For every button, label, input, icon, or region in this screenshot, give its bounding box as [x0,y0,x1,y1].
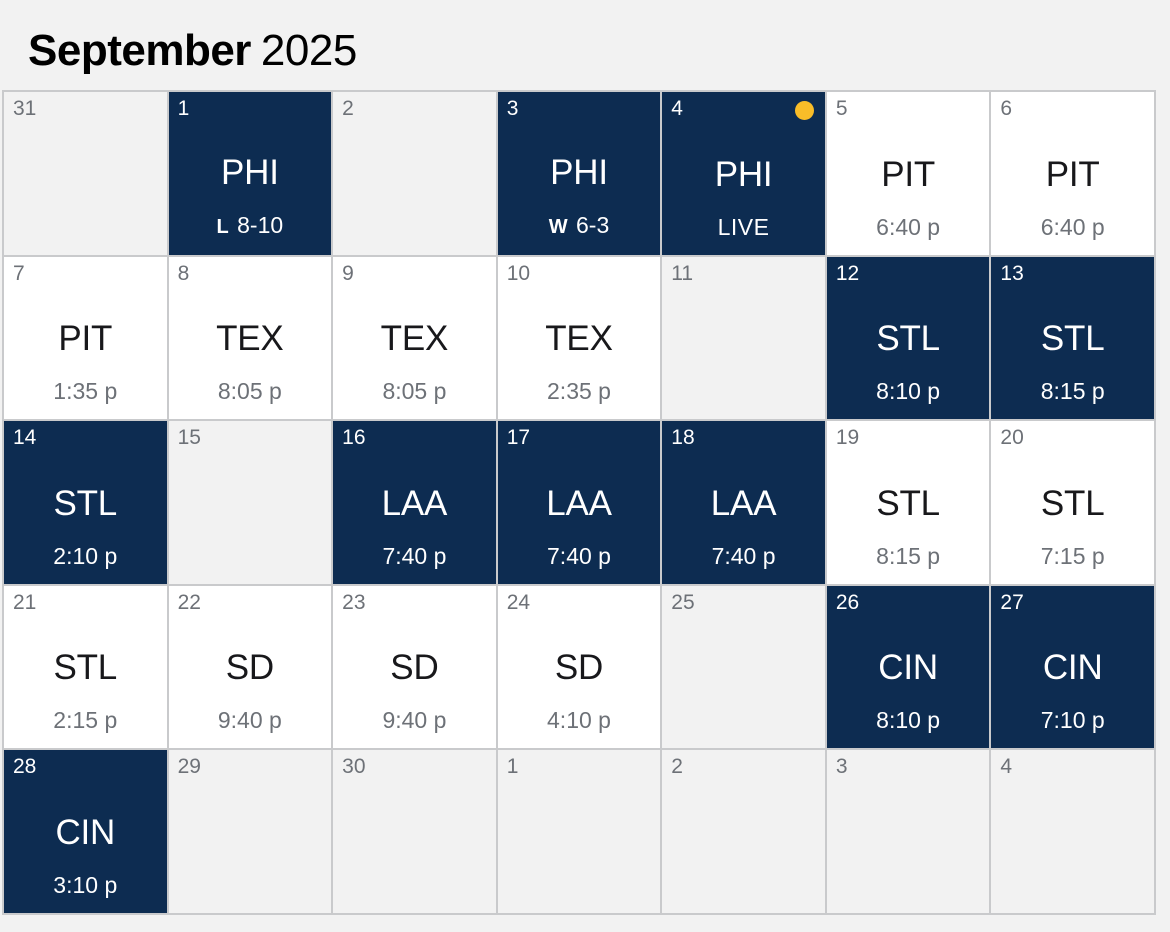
team-abbreviation: STL [876,484,940,524]
day-cell[interactable]: 7PIT1:35 p [4,257,167,420]
team-abbreviation: TEX [545,319,612,359]
title-year: 2025 [261,26,357,75]
day-number: 2 [671,755,683,779]
team-abbreviation: LAA [382,484,448,524]
day-number: 17 [507,426,530,450]
day-cell[interactable]: 26CIN8:10 p [827,586,990,749]
day-number: 31 [13,97,36,121]
day-cell[interactable]: 20STL7:15 p [991,421,1154,584]
game-time: 8:10 p [876,706,940,734]
team-abbreviation: PIT [1046,155,1100,195]
game-entry[interactable]: PHIL 8-10 [169,92,332,255]
day-cell: 15 [169,421,332,584]
day-number: 10 [507,262,530,286]
day-cell[interactable]: 17LAA7:40 p [498,421,661,584]
calendar-page: September2025 311PHIL 8-1023PHIW 6-34PHI… [0,0,1170,932]
day-cell[interactable]: 4PHILIVE [662,92,825,255]
day-cell[interactable]: 10TEX2:35 p [498,257,661,420]
day-number: 26 [836,591,859,615]
game-time: 7:15 p [1041,542,1105,570]
day-number: 15 [178,426,201,450]
game-time: 8:15 p [1041,377,1105,405]
game-time: 1:35 p [53,377,117,405]
team-abbreviation: CIN [878,648,938,688]
game-time: 7:40 p [547,542,611,570]
team-abbreviation: STL [53,484,117,524]
day-number: 11 [671,262,693,286]
day-number: 3 [836,755,848,779]
game-time: 9:40 p [382,706,446,734]
day-cell: 11 [662,257,825,420]
day-number: 1 [507,755,519,779]
team-abbreviation: LAA [546,484,612,524]
game-time: 8:10 p [876,377,940,405]
game-time: 8:15 p [876,542,940,570]
day-number: 14 [13,426,36,450]
team-abbreviation: PHI [715,155,773,195]
game-time: 8:05 p [382,377,446,405]
day-cell: 25 [662,586,825,749]
day-cell[interactable]: 22SD9:40 p [169,586,332,749]
day-cell: 4 [991,750,1154,913]
team-abbreviation: STL [1041,319,1105,359]
day-cell[interactable]: 12STL8:10 p [827,257,990,420]
day-cell[interactable]: 14STL2:10 p [4,421,167,584]
team-abbreviation: TEX [216,319,283,359]
game-time: 4:10 p [547,706,611,734]
result-score: 6-3 [576,212,609,238]
day-number: 7 [13,262,25,286]
day-number: 1 [178,97,190,121]
day-number: 21 [13,591,36,615]
team-abbreviation: CIN [1043,648,1103,688]
day-number: 2 [342,97,354,121]
game-time: 7:40 p [712,542,776,570]
game-entry[interactable]: PHIW 6-3 [498,92,661,255]
day-number: 28 [13,755,36,779]
day-number: 25 [671,591,694,615]
day-number: 4 [1000,755,1012,779]
team-abbreviation: PHI [221,153,279,193]
game-entry[interactable]: TEX8:05 p [169,257,332,420]
day-cell[interactable]: 5PIT6:40 p [827,92,990,255]
day-number: 4 [671,97,683,121]
day-number: 8 [178,262,190,286]
calendar-header: September2025 [0,0,1170,88]
day-cell[interactable]: 18LAA7:40 p [662,421,825,584]
day-cell[interactable]: 16LAA7:40 p [333,421,496,584]
day-cell: 2 [662,750,825,913]
day-number: 16 [342,426,365,450]
team-abbreviation: SD [226,648,274,688]
day-cell[interactable]: 6PIT6:40 p [991,92,1154,255]
day-cell[interactable]: 3PHIW 6-3 [498,92,661,255]
day-number: 23 [342,591,365,615]
game-entry[interactable]: PIT6:40 p [991,92,1154,255]
game-time: 2:10 p [53,542,117,570]
day-cell[interactable]: 8TEX8:05 p [169,257,332,420]
day-cell[interactable]: 23SD9:40 p [333,586,496,749]
day-cell[interactable]: 19STL8:15 p [827,421,990,584]
team-abbreviation: TEX [381,319,448,359]
game-time: 2:15 p [53,706,117,734]
day-number: 13 [1000,262,1023,286]
day-cell: 3 [827,750,990,913]
game-time: 8:05 p [218,377,282,405]
day-number: 9 [342,262,354,286]
team-abbreviation: LAA [711,484,777,524]
day-number: 29 [178,755,201,779]
day-number: 18 [671,426,694,450]
game-time: 2:35 p [547,377,611,405]
day-number: 3 [507,97,519,121]
game-time: 9:40 p [218,706,282,734]
day-number: 6 [1000,97,1012,121]
team-abbreviation: SD [555,648,603,688]
team-abbreviation: STL [1041,484,1105,524]
live-indicator-icon [795,101,814,120]
day-number: 30 [342,755,365,779]
game-time: 6:40 p [1041,213,1105,241]
day-cell: 1 [498,750,661,913]
day-cell[interactable]: 21STL2:15 p [4,586,167,749]
day-cell[interactable]: 1PHIL 8-10 [169,92,332,255]
game-result: L 8-10 [217,211,284,241]
day-number: 12 [836,262,859,286]
team-abbreviation: PIT [881,155,935,195]
team-abbreviation: PHI [550,153,608,193]
day-cell[interactable]: 13STL8:15 p [991,257,1154,420]
day-number: 27 [1000,591,1023,615]
day-number: 20 [1000,426,1023,450]
team-abbreviation: SD [390,648,438,688]
game-entry[interactable]: PIT1:35 p [4,257,167,420]
result-flag: W [549,216,568,238]
team-abbreviation: PIT [58,319,112,359]
day-cell[interactable]: 9TEX8:05 p [333,257,496,420]
game-time: 3:10 p [53,871,117,899]
day-cell: 29 [169,750,332,913]
game-result: W 6-3 [549,211,610,241]
game-status: LIVE [718,213,770,241]
day-number: 24 [507,591,530,615]
result-flag: L [217,216,229,238]
team-abbreviation: CIN [55,813,115,853]
team-abbreviation: STL [876,319,940,359]
title-month: September [28,26,251,75]
game-time: 7:40 p [382,542,446,570]
result-score: 8-10 [237,212,283,238]
day-cell[interactable]: 24SD4:10 p [498,586,661,749]
calendar-grid: 311PHIL 8-1023PHIW 6-34PHILIVE5PIT6:40 p… [2,90,1156,915]
day-number: 19 [836,426,859,450]
day-cell: 2 [333,92,496,255]
team-abbreviation: STL [53,648,117,688]
game-time: 7:10 p [1041,706,1105,734]
game-entry[interactable]: TEX8:05 p [333,257,496,420]
page-title: September2025 [28,25,357,77]
day-number: 5 [836,97,848,121]
game-entry[interactable]: PIT6:40 p [827,92,990,255]
day-number: 22 [178,591,201,615]
game-time: 6:40 p [876,213,940,241]
day-cell[interactable]: 28CIN3:10 p [4,750,167,913]
day-cell[interactable]: 27CIN7:10 p [991,586,1154,749]
day-cell: 30 [333,750,496,913]
day-cell: 31 [4,92,167,255]
